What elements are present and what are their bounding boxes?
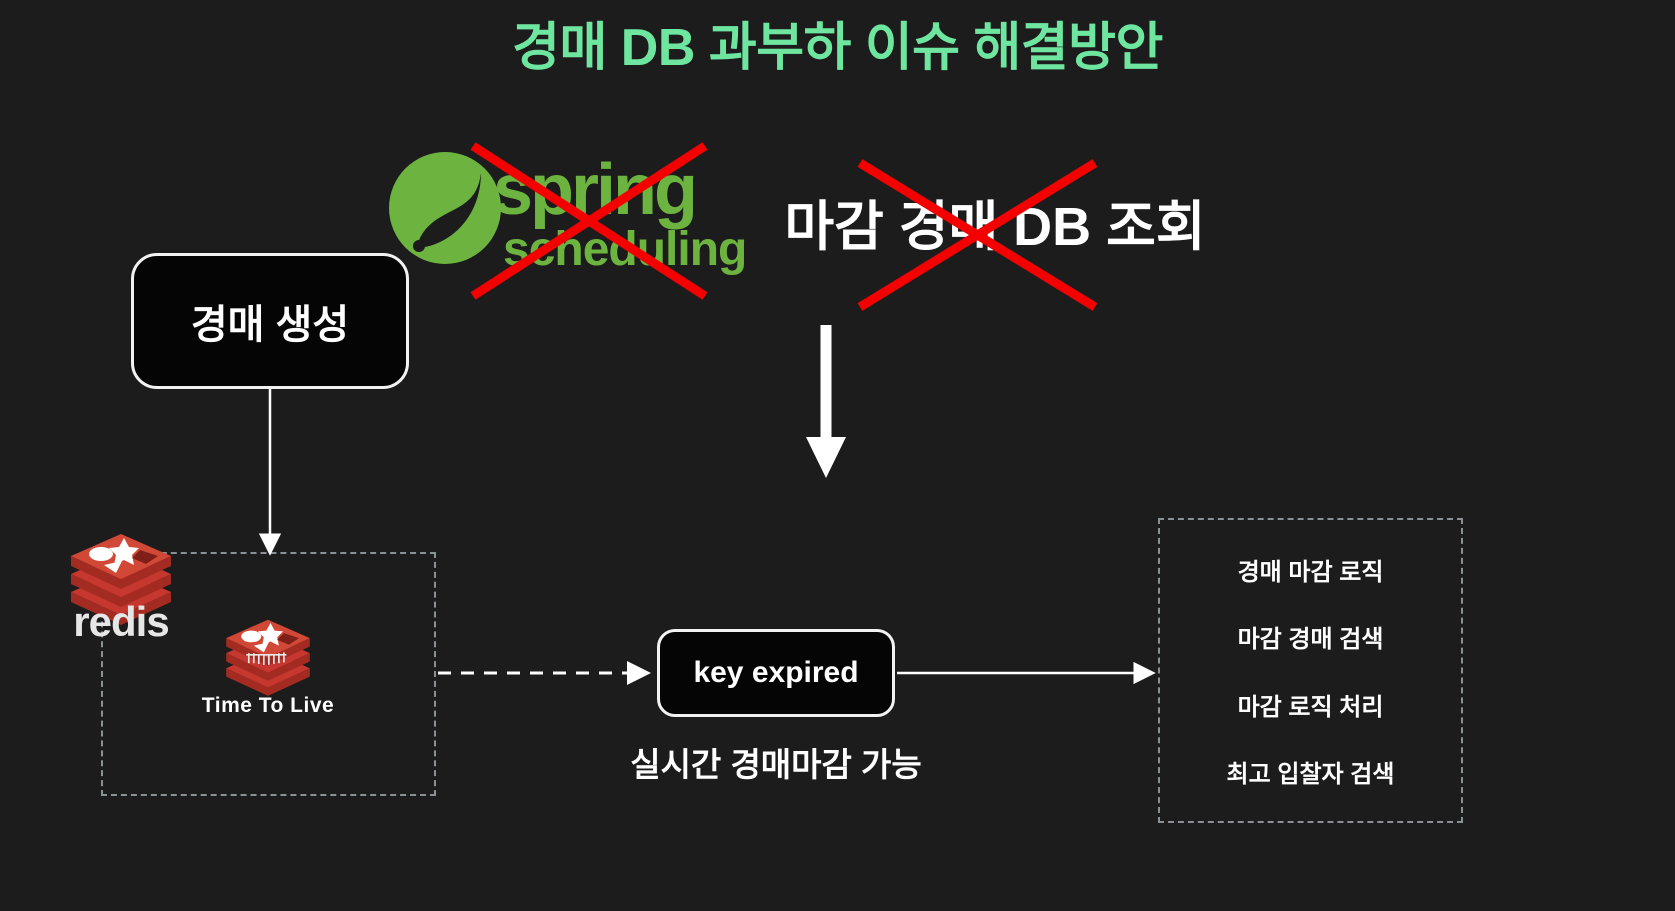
spring-wordmark: spring <box>493 162 695 220</box>
key-expired-label: key expired <box>693 656 858 690</box>
page-title: 경매 DB 과부하 이슈 해결방안 <box>0 20 1675 77</box>
crossed-spring-scheduling-group: spring scheduling <box>385 140 705 300</box>
diagram-canvas: 경매 DB 과부하 이슈 해결방안 spring scheduling 마감 경… <box>0 0 1675 911</box>
list-item: 마감 경매 검색 <box>1238 619 1384 654</box>
list-item: 마감 로직 처리 <box>1238 687 1384 722</box>
spring-subtext: scheduling <box>503 228 746 271</box>
realtime-close-caption: 실시간 경매마감 가능 <box>586 738 966 786</box>
crossed-db-query-group: 마감 경매 DB 조회 <box>745 160 1245 310</box>
list-item: 경매 마감 로직 <box>1238 552 1384 587</box>
list-item: 최고 입찰자 검색 <box>1227 754 1395 789</box>
create-auction-node[interactable]: 경매 생성 <box>131 253 409 389</box>
key-expired-node[interactable]: key expired <box>657 629 895 717</box>
redis-ttl-label: Time To Live <box>178 694 358 718</box>
db-query-label: 마감 경매 DB 조회 <box>745 182 1245 261</box>
arrow-down-icon <box>806 325 846 478</box>
outcome-list: 경매 마감 로직 마감 경매 검색 마감 로직 처리 최고 입찰자 검색 <box>1158 518 1463 823</box>
redis-label: redis <box>62 598 180 646</box>
spring-leaf-icon <box>385 148 505 268</box>
create-auction-label: 경매 생성 <box>191 292 349 350</box>
redis-ttl-stack-icon <box>222 608 314 700</box>
